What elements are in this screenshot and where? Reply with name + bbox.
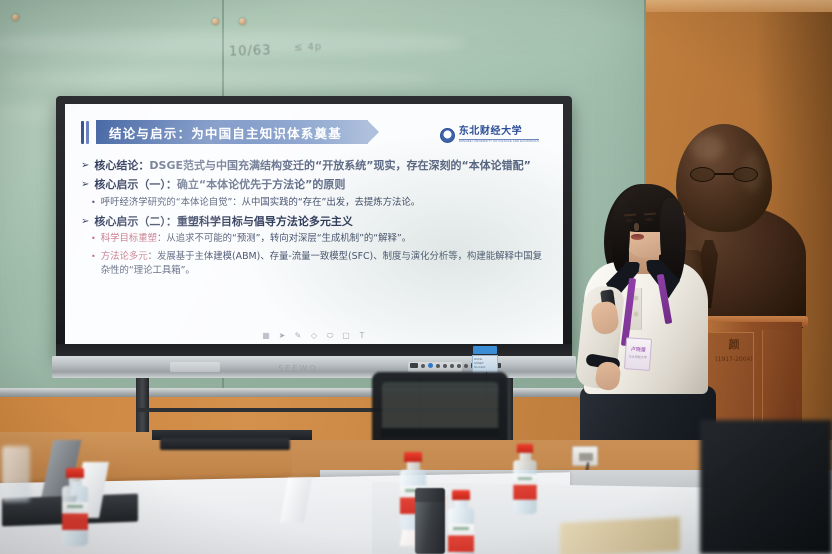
thermos (415, 488, 445, 554)
slide-body: ➢ 核心结论：DSGE范式与中国充满结构变迁的“开放系统”现实，存在深刻的“本体… (81, 158, 547, 277)
bullet-marker: • (91, 196, 96, 210)
university-name-cn: 东北财经大学 (459, 127, 539, 137)
bullet-marker: • (91, 232, 96, 246)
grid-icon[interactable]: ▦ (262, 331, 271, 340)
presenter-mouth (631, 234, 644, 240)
badge-name: 卢晓蕾 (626, 345, 650, 354)
foreground-dark-object (700, 420, 832, 554)
pedestal-name: 颜 (712, 338, 756, 351)
bullet-text: 重塑科学目标与倡导方法论多元主义 (177, 215, 353, 228)
glasses-icon (690, 167, 758, 182)
bullet-text: 呼吁经济学研究的“本体论自觉”：从中国实践的“存在”出发，去提炼方法论。 (101, 196, 547, 210)
bullet-lead: 核心启示（一）： (94, 178, 177, 191)
desk-paper (560, 517, 680, 554)
bullet-text: DSGE范式与中国充满结构变迁的“开放系统”现实，存在深刻的“本体论错配” (149, 159, 531, 172)
power-outlet (572, 446, 598, 466)
title-accent-bars (81, 121, 89, 144)
bullet-marker: • (91, 250, 96, 264)
bullet-item: ➢ 核心启示（二）：重塑科学目标与倡导方法论多元主义 (81, 214, 547, 230)
text-icon[interactable]: T (358, 331, 367, 340)
bottle-cap (66, 468, 84, 478)
water-bottle (62, 468, 88, 546)
display-screen[interactable]: 结论与启示：为中国自主知识体系奠基 东北财经大学 DONGBEI UNIVERS… (65, 104, 563, 344)
glass-cup (2, 446, 30, 502)
eraser-icon[interactable]: ◇ (310, 331, 319, 340)
display-brand-label: SEEWO (268, 364, 328, 373)
slide-title-row: 结论与启示：为中国自主知识体系奠基 东北财经大学 DONGBEI UNIVERS… (81, 117, 547, 147)
presentation-slide: 结论与启示：为中国自主知识体系奠基 东北财经大学 DONGBEI UNIVERS… (65, 104, 563, 344)
cursor-icon[interactable]: ➤ (278, 331, 287, 340)
slide-toolbar[interactable]: ▦ ➤ ✎ ◇ ⬭ ▢ T (65, 331, 563, 340)
bullet-marker: ➢ (81, 177, 89, 192)
bottle-cap (452, 490, 470, 500)
shape-icon[interactable]: ▢ (342, 331, 351, 340)
bullet-text: 从追求不可能的“预测”，转向对深层“生成机制”的“解释”。 (166, 233, 411, 244)
sub-bullet-item: • 方法论多元：发展基于主体建模(ABM)、存量-流量一致模型(SFC)、制度与… (81, 250, 547, 277)
pedestal-years: (1917-2004) (708, 356, 760, 363)
badge-org: 东北财经大学 (626, 354, 650, 360)
classroom-scene: 10/63 ≤ 4p 结论与启示：为中国自主知识体系奠基 东北财经大学 DONG… (0, 0, 832, 554)
pen-icon[interactable]: ✎ (294, 331, 303, 340)
bullet-highlight: 方法论多元 (101, 251, 148, 262)
university-logo: 东北财经大学 DONGBEI UNIVERSITY OF FINANCE AND… (440, 127, 539, 143)
water-bottle (513, 444, 536, 514)
bullet-item: ➢ 核心启示（一）：确立“本体论优先于方法论”的原则 (81, 177, 547, 193)
bullet-item: ➢ 核心结论：DSGE范式与中国充满结构变迁的“开放系统”现实，存在深刻的“本体… (81, 158, 547, 174)
bullet-lead: 核心启示（二）： (94, 215, 177, 228)
bullet-lead: ： (157, 233, 166, 244)
bullet-text: 确立“本体论优先于方法论”的原则 (177, 178, 345, 191)
bullet-text: 发展基于主体建模(ABM)、存量-流量一致模型(SFC)、制度与演化分析等，构建… (101, 251, 542, 276)
slide-title: 结论与启示：为中国自主知识体系奠基 (96, 120, 368, 144)
bullet-lead: 核心结论： (94, 159, 149, 172)
bullet-highlight: 科学目标重塑 (101, 233, 157, 244)
magnifier-icon[interactable]: ⬭ (326, 331, 335, 340)
status-sticker (473, 346, 497, 354)
sub-bullet-item: • 科学目标重塑：从追求不可能的“预测”，转向对深层“生成机制”的“解释”。 (81, 232, 547, 246)
bullet-marker: ➢ (81, 158, 89, 173)
keyboard[interactable] (160, 438, 290, 450)
university-seal-icon (440, 128, 455, 143)
water-bottle (448, 490, 474, 554)
bottle-cap (404, 452, 422, 462)
name-badge: 卢晓蕾 东北财经大学 (624, 337, 652, 371)
sub-bullet-item: • 呼吁经济学研究的“本体论自觉”：从中国实践的“存在”出发，去提炼方法论。 (81, 196, 547, 210)
university-name-en: DONGBEI UNIVERSITY OF FINANCE AND ECONOM… (459, 139, 539, 144)
bottle-cap (517, 444, 533, 453)
bullet-lead: ： (148, 251, 157, 262)
interactive-display[interactable]: 结论与启示：为中国自主知识体系奠基 东北财经大学 DONGBEI UNIVERS… (56, 96, 572, 358)
bullet-marker: ➢ (81, 214, 89, 229)
